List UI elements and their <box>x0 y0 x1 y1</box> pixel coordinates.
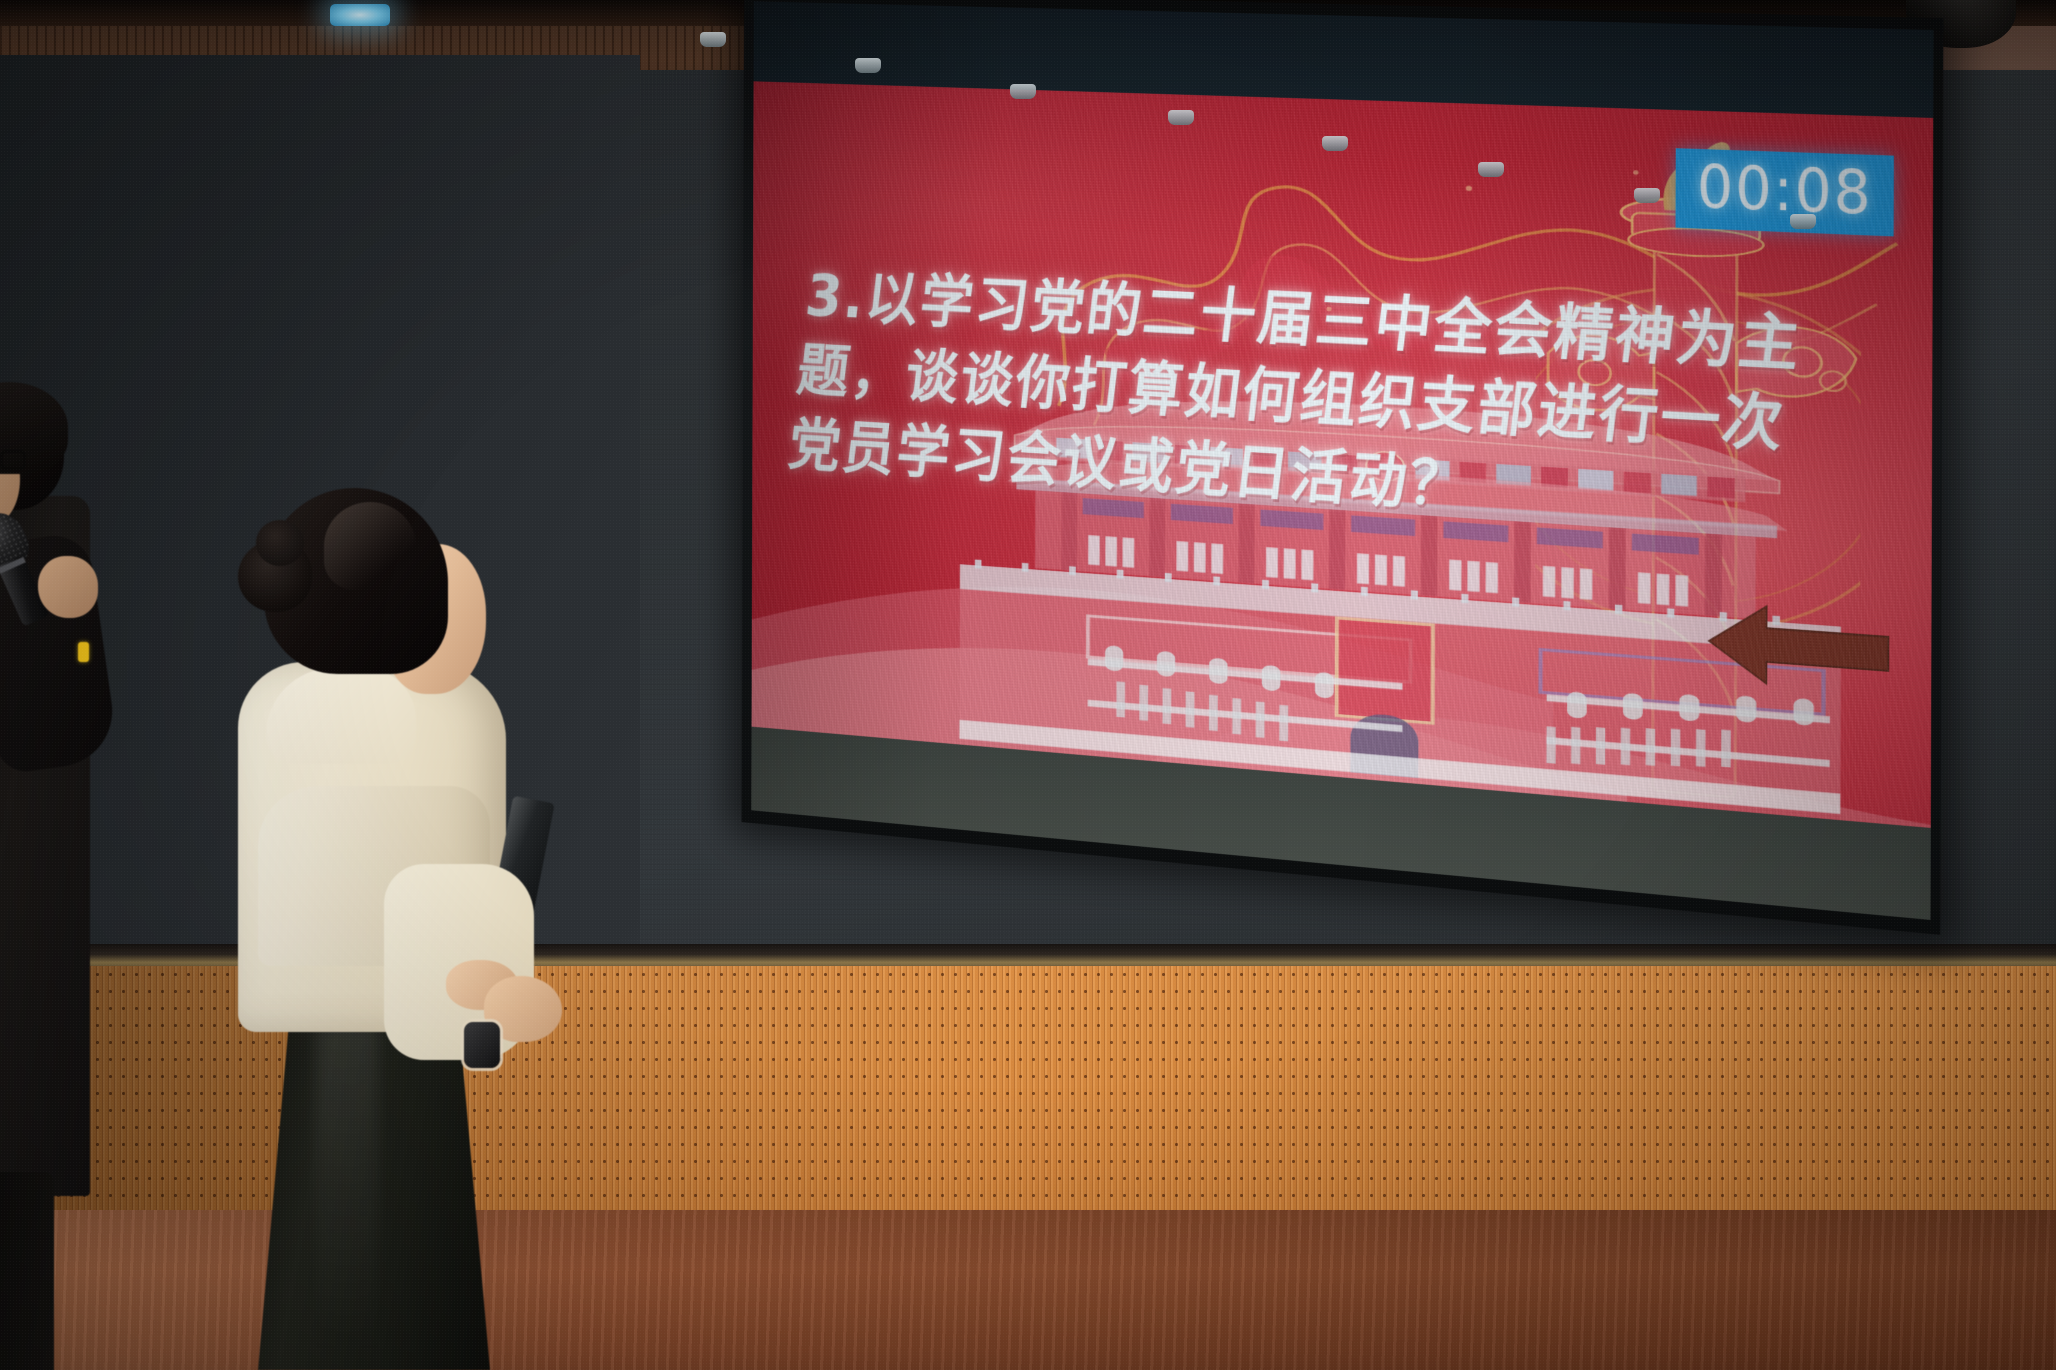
rail-spotlight-icon <box>1634 188 1660 203</box>
presenter-hair-bun-top <box>256 520 304 566</box>
yellow-badge-icon <box>78 642 89 662</box>
presenter-hair-highlight <box>324 502 416 590</box>
timer-value: 00:08 <box>1697 158 1873 224</box>
rail-spotlight-icon <box>1478 162 1504 177</box>
smartwatch-icon <box>464 1022 500 1068</box>
rail-spotlight-icon <box>700 32 726 47</box>
presenter-person <box>232 486 652 1370</box>
moderator-hand <box>38 556 98 618</box>
auditorium-scene: 00:08 3.以学习党的二十届三中全会精神为主 题，谈谈你打算如何组织支部进行… <box>0 0 2056 1370</box>
rail-spotlight-icon <box>855 58 881 73</box>
left-arrow-icon <box>1707 599 1890 697</box>
rail-spotlight-icon <box>1168 110 1194 125</box>
countdown-timer: 00:08 <box>1676 148 1894 236</box>
eyeglasses-icon <box>0 450 32 472</box>
moderator-person <box>0 392 154 1370</box>
moderator-legs <box>0 1172 54 1370</box>
presenter-skirt-highlight <box>316 1026 378 1356</box>
rail-spotlight-icon <box>1322 136 1348 151</box>
rail-spotlight-icon <box>1790 214 1816 229</box>
presentation-slide: 00:08 3.以学习党的二十届三中全会精神为主 题，谈谈你打算如何组织支部进行… <box>752 81 1934 828</box>
ceiling-indicator-light <box>330 4 390 26</box>
rail-spotlight-icon <box>1010 84 1036 99</box>
